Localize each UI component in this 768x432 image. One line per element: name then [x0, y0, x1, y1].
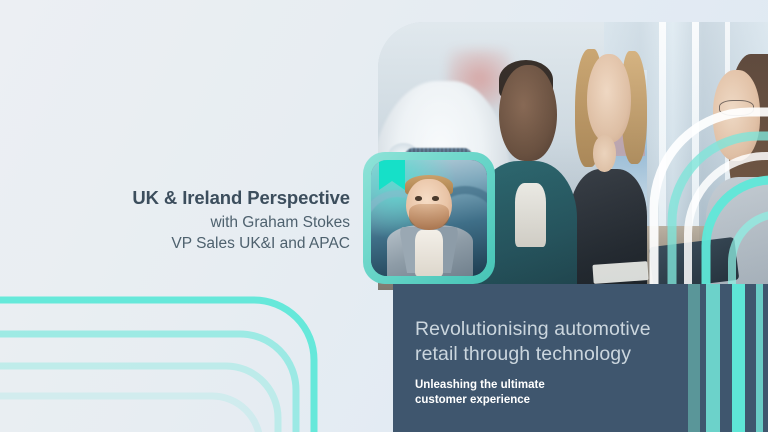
- avatar: [371, 160, 487, 276]
- page-title: UK & Ireland Perspective: [0, 186, 350, 209]
- panel-headline: Revolutionising automotive retail throug…: [415, 317, 682, 367]
- rounded-corner-lines-decoration: [0, 282, 374, 432]
- rounded-corner-lines-icon: [0, 282, 374, 432]
- panel-stripes-decoration: [686, 284, 768, 432]
- panel-text-block: Revolutionising automotive retail throug…: [415, 317, 682, 407]
- panel-subhead: Unleashing the ultimate customer experie…: [415, 378, 682, 407]
- title-block: UK & Ireland Perspective with Graham Sto…: [0, 186, 352, 254]
- avatar-frame: [363, 152, 495, 284]
- slide-canvas: Revolutionising automotive retail throug…: [0, 0, 768, 432]
- presenter-name: with Graham Stokes: [0, 213, 350, 233]
- bookmark-icon: [379, 160, 405, 190]
- content-panel: Revolutionising automotive retail throug…: [393, 284, 768, 432]
- presenter-role: VP Sales UK&I and APAC: [0, 233, 350, 254]
